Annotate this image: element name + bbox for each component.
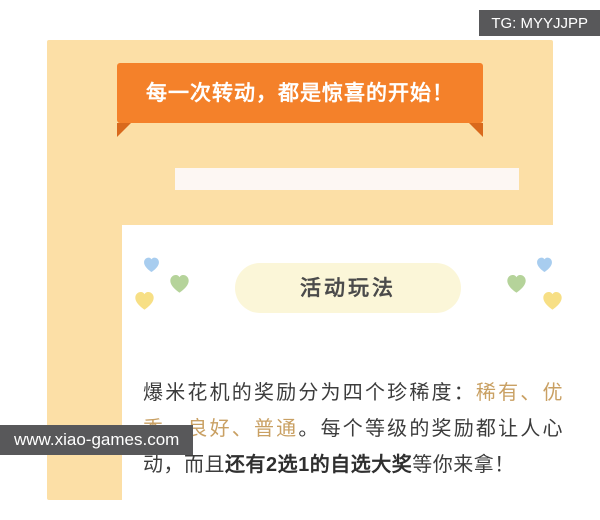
body-segment-plain-3: 等你来拿！	[412, 454, 515, 476]
section-heading-group: 活动玩法	[122, 250, 574, 328]
section-title-text: 活动玩法	[300, 278, 396, 299]
body-paragraph: 爆米花机的奖励分为四个珍稀度：稀有、优秀、良好、普通。每个等级的奖励都让人心动，…	[143, 375, 563, 483]
heart-left-yellow-icon	[134, 290, 155, 311]
content-panel: 活动玩法 爆米花机的	[122, 225, 574, 520]
section-title-pill: 活动玩法	[235, 263, 461, 313]
watermark-bottom-left: www.xiao-games.com	[0, 425, 193, 455]
body-segment-grand-prize: 还有2选1的自选大奖	[225, 454, 412, 476]
headline-banner: 每一次转动，都是惊喜的开始！	[111, 63, 489, 135]
banner-fold-right	[469, 123, 483, 137]
page-root: 活动玩法 爆米花机的	[0, 0, 600, 480]
heart-left-blue-icon	[143, 256, 160, 273]
headline-banner-body: 每一次转动，都是惊喜的开始！	[117, 63, 483, 123]
watermark-top-right: TG: MYYJJPP	[479, 10, 600, 36]
heart-right-yellow-icon	[542, 290, 563, 311]
headline-banner-text: 每一次转动，都是惊喜的开始！	[146, 83, 454, 104]
heart-left-green-icon	[169, 273, 190, 294]
banner-shelf	[175, 168, 519, 190]
body-segment-plain-1: 爆米花机的奖励分为四个珍稀度：	[143, 382, 476, 404]
heart-right-blue-icon	[536, 256, 553, 273]
banner-fold-left	[117, 123, 131, 137]
heart-right-green-icon	[506, 273, 527, 294]
